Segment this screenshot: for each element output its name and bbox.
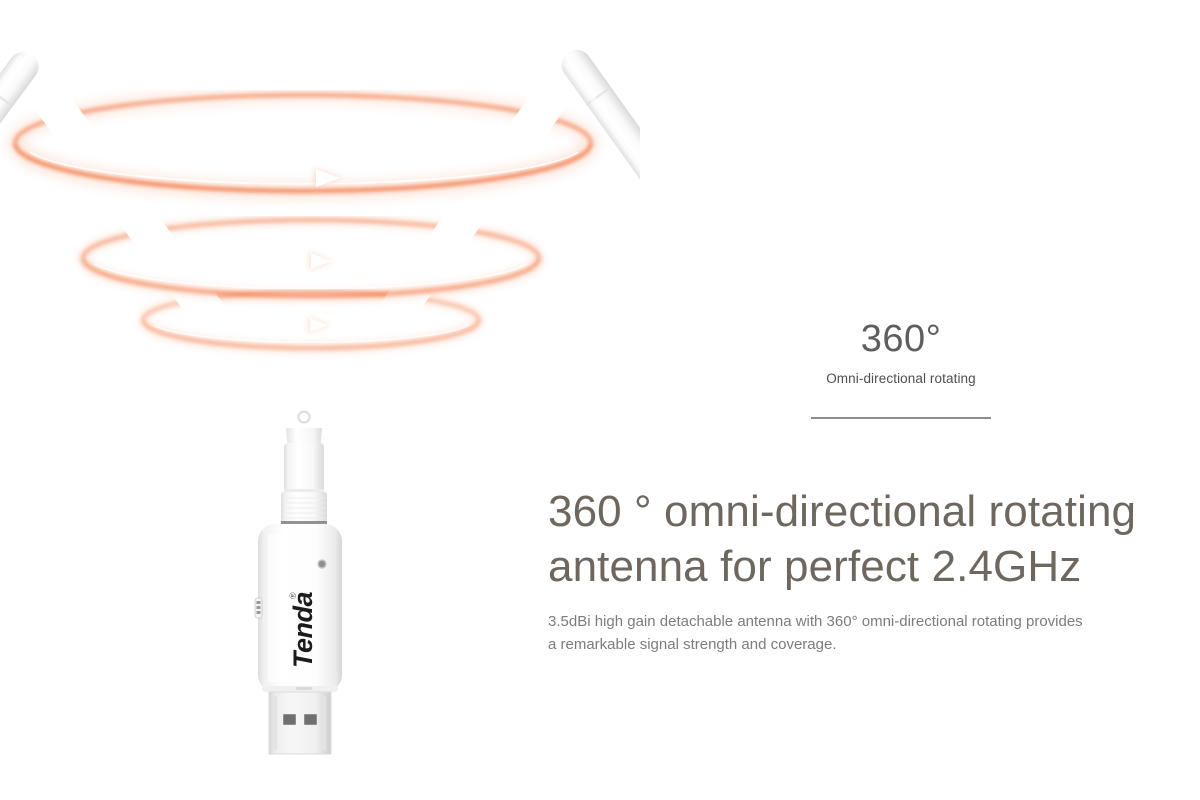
brand-name: Tenda <box>288 592 318 668</box>
antenna-left <box>0 46 44 450</box>
antenna-neck <box>284 443 324 493</box>
direction-arrow-middle <box>309 252 333 270</box>
headline-line-1: 360 ° omni-directional rotating <box>548 487 1136 536</box>
subcopy-text: 3.5dBi high gain detachable antenna with… <box>548 611 1088 657</box>
brand-logo: Tenda ® <box>288 592 318 668</box>
wps-button[interactable] <box>255 598 262 618</box>
badge-caption: Omni-directional rotating <box>806 371 996 386</box>
headline-line-2: antenna for perfect 2.4GHz <box>548 542 1081 591</box>
product-illustration-svg: Tenda ® <box>0 0 640 800</box>
direction-arrow-top <box>314 168 342 188</box>
badge-divider <box>811 417 991 419</box>
page-title: 360 ° omni-directional rotating antenna … <box>548 484 1196 594</box>
copy-column: 360° Omni-directional rotating 360 ° omn… <box>548 0 1200 800</box>
led-indicator <box>317 559 326 568</box>
signal-rings-back <box>15 95 591 320</box>
product-banner: Tenda ® 360° Omni-directional <box>0 0 1200 800</box>
rotation-badge: 360° Omni-directional rotating <box>806 318 996 419</box>
product-illustration: Tenda ® <box>0 0 640 800</box>
direction-arrow-bottom <box>308 317 330 333</box>
trademark-symbol: ® <box>288 592 298 599</box>
usb-adapter-body: Tenda ® <box>255 524 342 692</box>
connector-collar <box>281 492 327 525</box>
usb-connector <box>269 692 331 754</box>
badge-value: 360° <box>806 318 996 361</box>
headline-block: 360 ° omni-directional rotating antenna … <box>548 484 1196 657</box>
